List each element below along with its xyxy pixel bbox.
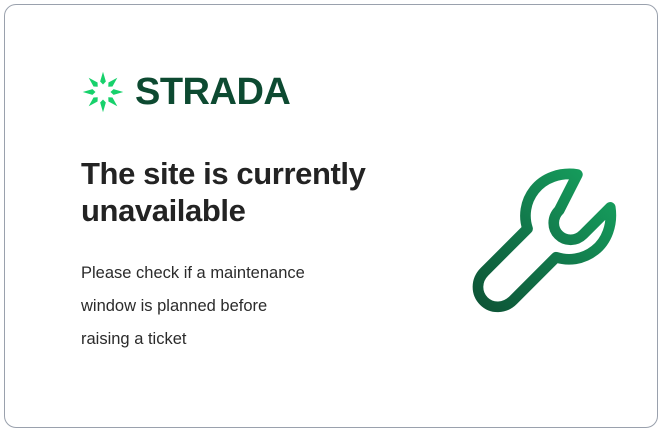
page-title: The site is currently unavailable xyxy=(81,155,411,229)
status-card: STRADA The site is currently unavailable… xyxy=(4,4,658,428)
page-root: STRADA The site is currently unavailable… xyxy=(0,0,666,436)
content-column: STRADA The site is currently unavailable… xyxy=(81,67,451,356)
body-copy: Please check if a maintenance window is … xyxy=(81,257,391,356)
wrench-icon xyxy=(457,153,629,325)
brand-lockup: STRADA xyxy=(81,67,451,117)
brand-wordmark: STRADA xyxy=(135,73,290,111)
body-line: window is planned before xyxy=(81,290,391,323)
body-line: raising a ticket xyxy=(81,323,391,356)
strada-asterisk-icon xyxy=(81,70,125,114)
body-line: Please check if a maintenance xyxy=(81,257,391,290)
